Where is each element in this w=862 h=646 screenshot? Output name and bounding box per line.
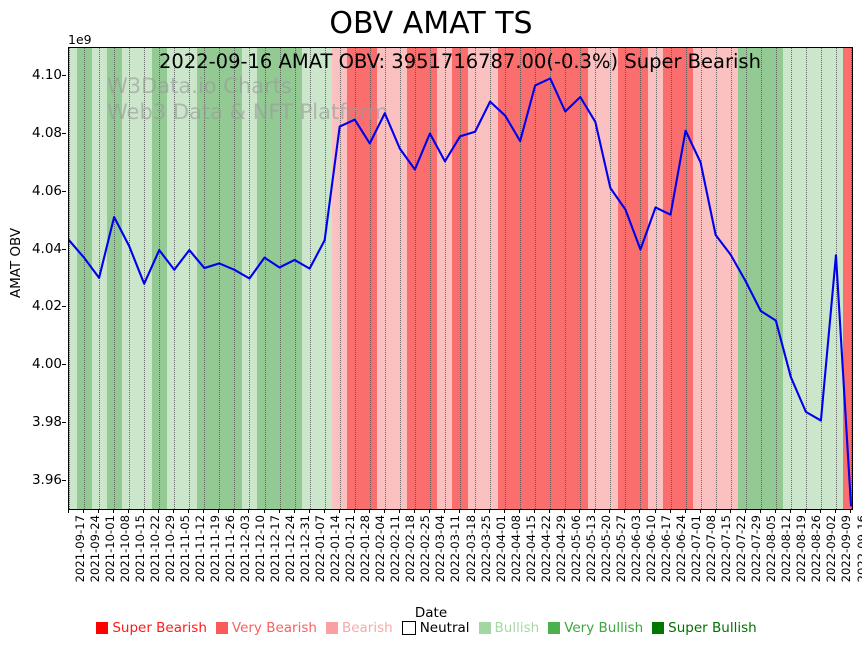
x-tick-mark [279,509,280,513]
x-tick-label: 2022-05-20 [599,515,613,582]
x-tick-mark [294,509,295,513]
legend-label: Super Bullish [668,620,757,636]
legend-item[interactable]: Bullish [479,620,540,636]
x-tick-mark [624,509,625,513]
y-tick-label: 4.10 [8,67,62,83]
x-tick-label: 2021-09-24 [88,515,102,582]
legend-item[interactable]: Very Bearish [216,620,317,636]
x-tick-mark [309,509,310,513]
x-tick-label: 2021-12-10 [253,515,267,582]
x-tick-label: 2022-06-17 [659,515,673,582]
x-tick-mark [670,509,671,513]
x-tick-mark [609,509,610,513]
x-tick-label: 2022-07-01 [689,515,703,582]
legend: Super BearishVery BearishBearishNeutralB… [0,620,862,636]
x-tick-mark [68,509,69,513]
x-tick-mark [579,509,580,513]
x-tick-mark [700,509,701,513]
y-axis-label: AMAT OBV [8,173,24,353]
chart-title: OBV AMAT TS [0,6,862,41]
y-tick-mark [62,422,66,423]
x-tick-label: 2022-05-27 [614,515,628,582]
legend-label: Very Bearish [232,620,317,636]
x-tick-mark [444,509,445,513]
y-tick-mark [62,480,66,481]
y-tick-mark [62,191,66,192]
y-tick-mark [62,75,66,76]
x-axis-label: Date [0,605,862,621]
x-tick-label: 2021-10-22 [148,515,162,582]
x-tick-label: 2022-04-22 [539,515,553,582]
x-tick-label: 2022-08-05 [764,515,778,582]
x-axis: 2021-09-172021-09-242021-10-012021-10-08… [0,509,862,609]
x-tick-mark [594,509,595,513]
legend-swatch [652,622,664,634]
x-tick-label: 2021-12-17 [268,515,282,582]
legend-swatch [548,622,560,634]
plot-area: W3Data.io Charts Web3 Data & NFT Platfor… [68,47,853,510]
y-tick-mark [62,306,66,307]
x-tick-mark [685,509,686,513]
x-tick-mark [399,509,400,513]
x-tick-mark [354,509,355,513]
x-tick-label: 2022-01-07 [313,515,327,582]
legend-label: Bearish [342,620,393,636]
legend-label: Super Bearish [112,620,207,636]
x-tick-label: 2022-09-09 [839,515,853,582]
x-tick-label: 2022-04-01 [494,515,508,582]
x-tick-mark [805,509,806,513]
x-tick-label: 2022-07-29 [749,515,763,582]
x-tick-label: 2021-11-12 [193,515,207,582]
x-tick-label: 2022-01-28 [358,515,372,582]
x-tick-label: 2022-02-04 [373,515,387,582]
x-tick-label: 2022-04-15 [524,515,538,582]
x-tick-mark [248,509,249,513]
x-tick-label: 2022-09-16 [855,515,862,582]
x-tick-label: 2021-10-08 [118,515,132,582]
legend-swatch [96,622,108,634]
x-tick-mark [775,509,776,513]
x-tick-mark [459,509,460,513]
legend-swatch [326,622,338,634]
x-tick-mark [143,509,144,513]
x-tick-label: 2021-10-01 [103,515,117,582]
legend-item[interactable]: Super Bearish [96,620,207,636]
x-tick-label: 2021-09-17 [73,515,87,582]
x-tick-mark [203,509,204,513]
x-tick-mark [339,509,340,513]
x-tick-mark [639,509,640,513]
x-tick-label: 2021-12-24 [283,515,297,582]
y-tick-label: 4.08 [8,125,62,141]
x-tick-label: 2021-11-19 [208,515,222,582]
x-tick-mark [474,509,475,513]
x-tick-mark [745,509,746,513]
x-tick-mark [324,509,325,513]
legend-item[interactable]: Neutral [402,620,470,636]
x-tick-mark [83,509,84,513]
x-tick-mark [760,509,761,513]
y-tick-label: 3.96 [8,472,62,488]
y-tick-label: 4.00 [8,356,62,372]
x-tick-mark [369,509,370,513]
x-tick-mark [489,509,490,513]
x-tick-label: 2021-11-26 [223,515,237,582]
x-tick-label: 2021-12-31 [298,515,312,582]
x-tick-label: 2022-03-25 [479,515,493,582]
x-tick-label: 2021-10-29 [163,515,177,582]
x-tick-label: 2022-01-21 [343,515,357,582]
x-tick-label: 2022-02-25 [418,515,432,582]
y-axis-offset-text: 1e9 [68,32,92,47]
x-tick-mark [715,509,716,513]
x-tick-label: 2022-08-26 [809,515,823,582]
legend-item[interactable]: Super Bullish [652,620,757,636]
y-tick-mark [62,249,66,250]
x-tick-label: 2022-02-11 [388,515,402,582]
x-tick-label: 2021-11-05 [178,515,192,582]
x-tick-mark [429,509,430,513]
x-tick-mark [158,509,159,513]
x-tick-label: 2022-03-11 [448,515,462,582]
x-tick-mark [835,509,836,513]
x-tick-mark [850,509,851,513]
x-tick-mark [730,509,731,513]
legend-label: Bullish [495,620,540,636]
x-tick-label: 2022-02-18 [403,515,417,582]
x-tick-label: 2022-06-10 [644,515,658,582]
x-tick-mark [233,509,234,513]
x-tick-label: 2021-10-15 [133,515,147,582]
x-tick-label: 2022-07-15 [719,515,733,582]
legend-swatch [216,622,228,634]
obv-line-series [69,48,852,509]
legend-label: Neutral [420,620,470,636]
legend-swatch [479,622,491,634]
x-tick-label: 2022-06-03 [629,515,643,582]
x-tick-label: 2022-04-08 [509,515,523,582]
x-tick-label: 2022-03-18 [464,515,478,582]
legend-swatch [402,621,416,635]
x-tick-mark [188,509,189,513]
y-tick-mark [62,133,66,134]
legend-item[interactable]: Very Bullish [548,620,643,636]
x-tick-mark [549,509,550,513]
x-tick-label: 2022-08-12 [779,515,793,582]
x-tick-mark [414,509,415,513]
x-tick-label: 2022-05-13 [584,515,598,582]
x-tick-mark [128,509,129,513]
x-tick-label: 2022-07-22 [734,515,748,582]
x-tick-mark [534,509,535,513]
x-tick-label: 2022-07-08 [704,515,718,582]
x-tick-mark [218,509,219,513]
x-tick-label: 2022-05-06 [569,515,583,582]
x-tick-mark [564,509,565,513]
x-tick-mark [790,509,791,513]
legend-label: Very Bullish [564,620,643,636]
x-tick-label: 2021-12-03 [238,515,252,582]
x-tick-mark [519,509,520,513]
x-tick-label: 2022-01-14 [328,515,342,582]
x-tick-mark [264,509,265,513]
x-tick-mark [820,509,821,513]
x-tick-mark [98,509,99,513]
x-tick-mark [655,509,656,513]
x-tick-label: 2022-09-02 [824,515,838,582]
y-tick-mark [62,364,66,365]
legend-item[interactable]: Bearish [326,620,393,636]
x-tick-label: 2022-08-19 [794,515,808,582]
x-tick-label: 2022-03-04 [433,515,447,582]
x-tick-label: 2022-06-24 [674,515,688,582]
x-tick-mark [173,509,174,513]
x-tick-label: 2022-04-29 [554,515,568,582]
y-tick-label: 3.98 [8,414,62,430]
x-tick-mark [504,509,505,513]
x-tick-mark [384,509,385,513]
chart-root: OBV AMAT TS 1e9 2022-09-16 AMAT OBV: 395… [0,0,862,646]
x-tick-mark [113,509,114,513]
